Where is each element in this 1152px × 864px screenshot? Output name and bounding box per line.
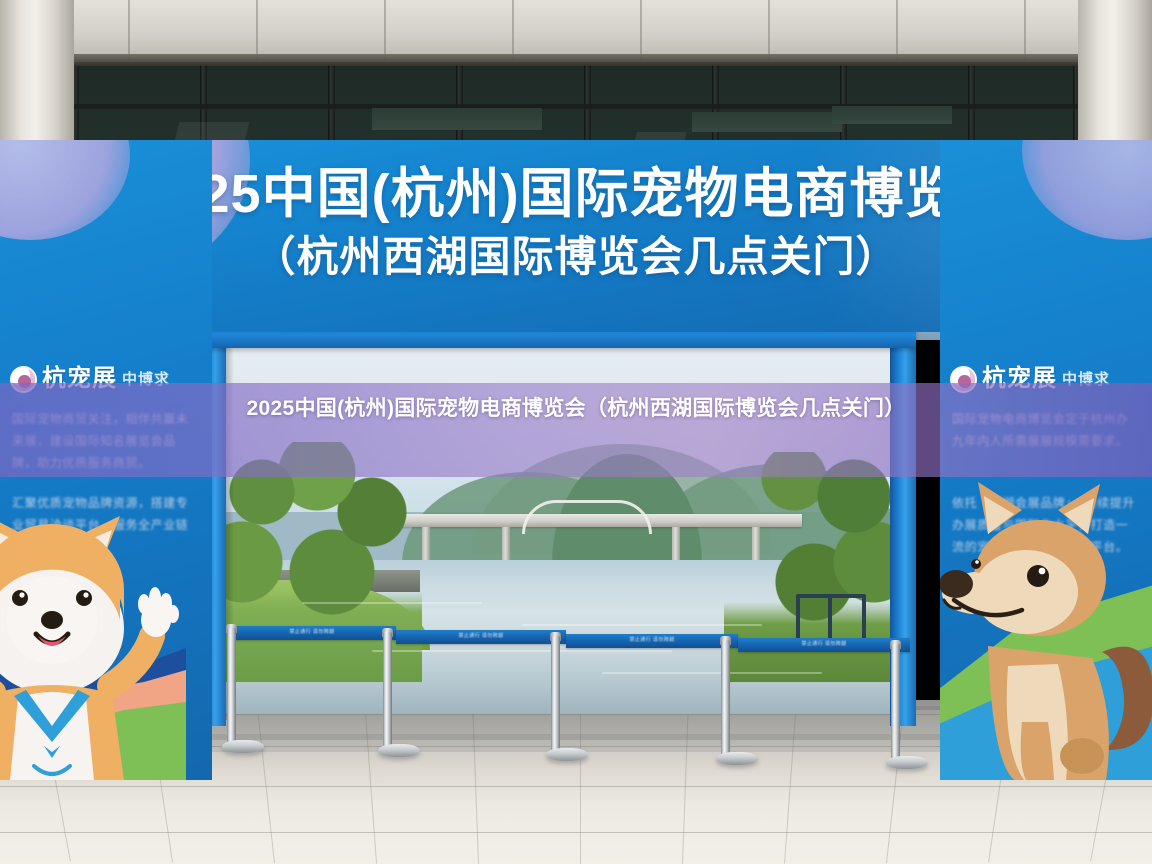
bridge-pier (672, 527, 680, 561)
water-ripple (302, 602, 482, 604)
soffit-beam (0, 54, 1152, 66)
stanchion-pole (721, 640, 730, 758)
ceiling-seam (256, 0, 258, 62)
caption-overlay-text: 2025中国(杭州)国际宠物电商博览会（杭州西湖国际博览会几点关门） (66, 383, 1086, 424)
stanchion-base (546, 748, 588, 761)
stanchion-base (716, 752, 758, 765)
water-ripple (602, 672, 822, 674)
barrier-belt-text: 禁止通行 请勿跨越 (738, 640, 910, 647)
pavement-joint (0, 832, 1152, 833)
ceiling-seam (640, 0, 642, 62)
screenshot-root: 2025中国(杭州)国际宠物电商博览会 （杭州西湖国际博览会几点关门） 杭宠展 … (0, 0, 1152, 864)
stanchion-pole (227, 628, 236, 746)
bridge-pier (502, 527, 510, 561)
barrier-belt-segment[interactable]: 禁止通行 请勿跨越 (396, 630, 566, 644)
bridge-arch-rail (522, 500, 652, 534)
right-board-graphics (940, 460, 1152, 780)
caption-overlay-band: 2025中国(杭州)国际宠物电商博览会（杭州西湖国际博览会几点关门） (0, 383, 1152, 477)
barrier-belt-segment[interactable]: 禁止通行 请勿跨越 (738, 638, 910, 652)
left-board-graphics (0, 470, 212, 780)
stanchion-base (222, 740, 264, 753)
glass-interior-fixture (692, 112, 842, 132)
ceiling-seam (1024, 0, 1026, 62)
stanchion-pole (891, 644, 900, 762)
stanchion-post[interactable] (716, 640, 760, 770)
ceiling-seam (896, 0, 898, 62)
stanchion-post[interactable] (222, 628, 264, 756)
barrier-belt-text: 禁止通行 请勿跨越 (566, 636, 738, 643)
ceiling-seam (128, 0, 130, 62)
stanchion-pole (383, 632, 392, 750)
stanchion-post[interactable] (546, 636, 590, 766)
glass-interior-fixture (372, 108, 542, 130)
water-ripple (522, 624, 762, 626)
glass-interior-fixture (832, 106, 952, 124)
pavement-joint (0, 786, 1152, 787)
stanchion-base (886, 756, 928, 769)
ceiling-seam (768, 0, 770, 62)
stanchion-pole (551, 636, 560, 754)
ceiling-seam (384, 0, 386, 62)
stanchion-post[interactable] (378, 632, 420, 760)
ceiling-soffit (0, 0, 1152, 62)
stanchion-post[interactable] (886, 644, 930, 774)
ceiling-seam (512, 0, 514, 62)
barrier-belt-segment[interactable]: 禁止通行 请勿跨越 (566, 634, 738, 648)
bridge-pier (422, 527, 430, 561)
barrier-belt-text: 禁止通行 请勿跨越 (396, 632, 566, 639)
stanchion-base (378, 744, 420, 757)
